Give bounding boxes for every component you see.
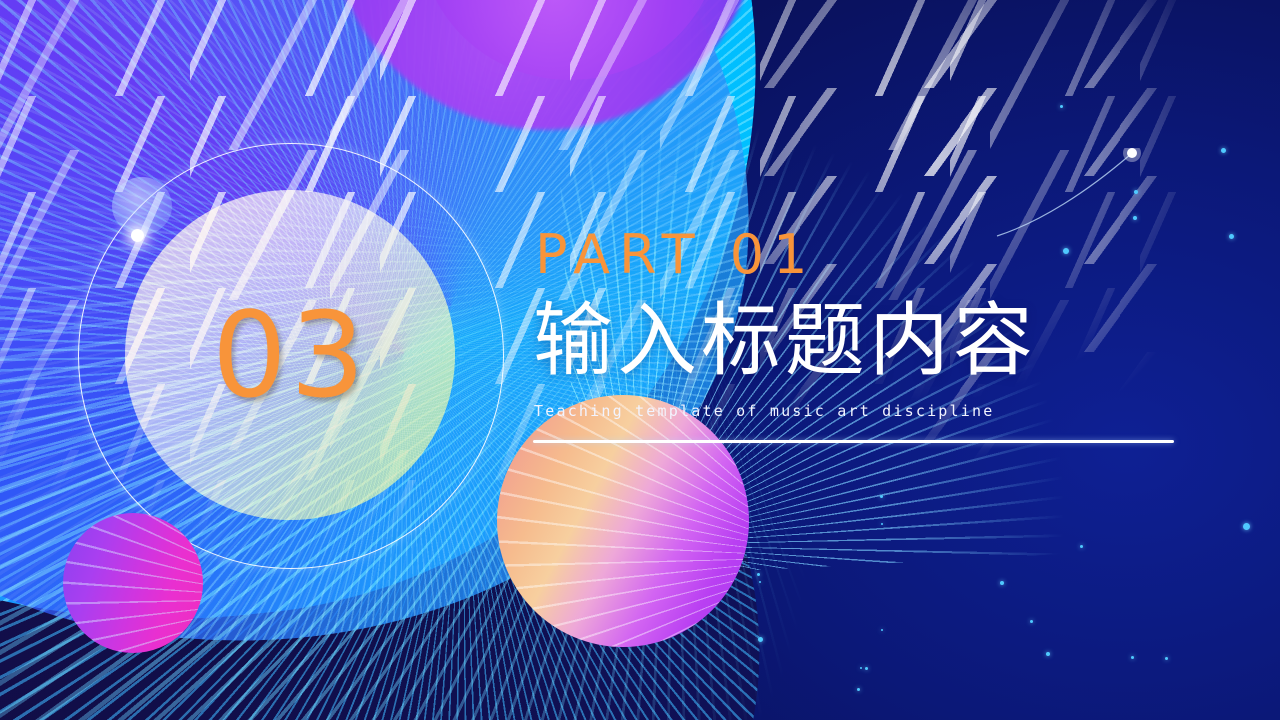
section-number: 03 bbox=[212, 296, 368, 414]
star-dot bbox=[881, 523, 883, 525]
pastel-number-circle: 03 bbox=[125, 190, 455, 520]
star-dot bbox=[865, 667, 868, 670]
subtitle-text: Teaching template of music art disciplin… bbox=[534, 402, 1193, 420]
star-dot bbox=[1221, 148, 1226, 153]
star-dot bbox=[759, 581, 761, 583]
title-underline-rule bbox=[533, 440, 1174, 443]
title-block: PART 01 输入标题内容 Teaching template of musi… bbox=[533, 228, 1193, 443]
star-dot bbox=[757, 573, 760, 576]
star-dot bbox=[857, 688, 860, 691]
star-dot bbox=[860, 667, 862, 669]
star-dot bbox=[880, 495, 883, 498]
star-dot bbox=[758, 637, 763, 642]
star-dot bbox=[1229, 234, 1234, 239]
page-title: 输入标题内容 bbox=[533, 298, 1193, 384]
star-dot bbox=[1080, 545, 1083, 548]
star-dot bbox=[1060, 105, 1063, 108]
star-dot bbox=[1000, 581, 1004, 585]
star-dot bbox=[1046, 652, 1050, 656]
star-dot bbox=[1131, 656, 1134, 659]
star-dot bbox=[1243, 523, 1250, 530]
star-dot bbox=[1165, 657, 1168, 660]
part-label: PART 01 bbox=[535, 228, 1193, 282]
star-dot bbox=[1030, 620, 1033, 623]
shooting-star-icon bbox=[995, 148, 1145, 238]
gradient-sphere-small bbox=[63, 513, 203, 653]
star-dot bbox=[881, 629, 883, 631]
slide-canvas: 03 PART 01 输入标题内容 Teaching template of m… bbox=[0, 0, 1280, 720]
